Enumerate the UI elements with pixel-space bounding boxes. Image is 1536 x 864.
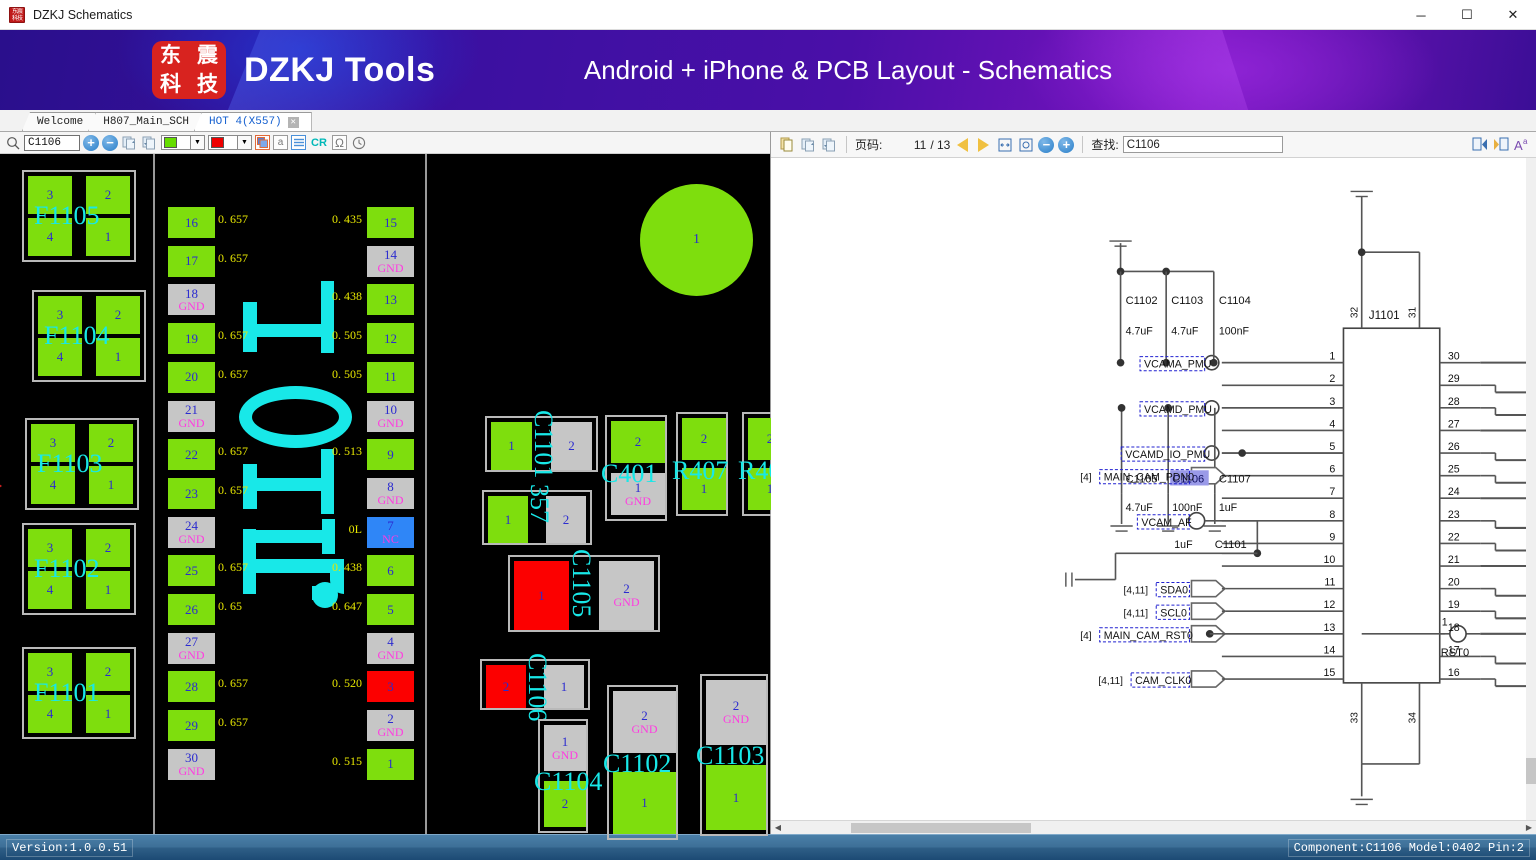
net-label: VCAM_AF (1141, 517, 1192, 529)
fit-page-icon[interactable] (1017, 136, 1034, 153)
port-symbol[interactable] (1191, 603, 1224, 619)
search-input[interactable]: C1106 (24, 135, 80, 151)
pcb-connector-pad[interactable]: 29 (168, 710, 215, 741)
pcb-round-pad[interactable]: 1 (640, 184, 753, 296)
pad[interactable]: 1 (706, 765, 766, 830)
pin-number: 33 (1350, 712, 1361, 724)
sheet-ref: [4,11] (1098, 676, 1123, 687)
pin-number: 4 (1329, 418, 1335, 430)
scroll-thumb[interactable] (851, 823, 1031, 833)
top-layer-swatch (161, 135, 191, 150)
pin-number: 19 (1448, 599, 1460, 611)
pad[interactable]: 2 (96, 296, 140, 334)
banner-title: Android + iPhone & PCB Layout - Schemati… (0, 55, 1536, 86)
scroll-right-arrow[interactable]: ▶ (1522, 821, 1536, 835)
pcb-connector-pad[interactable]: 23 (168, 478, 215, 509)
pcb-trace (322, 519, 335, 554)
pcb-connector-pad[interactable]: 26 (168, 594, 215, 625)
pad[interactable]: 1 (613, 772, 676, 834)
net-label: SDA0 (1160, 585, 1188, 597)
test-point-label: RST0 (1441, 647, 1469, 659)
tab-label: Welcome (37, 116, 83, 128)
chevron-down-icon[interactable]: ▼ (191, 135, 205, 150)
pad[interactable]: 1 (86, 695, 130, 733)
sheet-ref: [4,11] (1124, 586, 1149, 597)
pcb-connector-pad[interactable]: 11 (367, 362, 414, 393)
cap-value: 100nF (1219, 325, 1250, 337)
pcb-connector-pad[interactable]: 7NC (367, 517, 414, 548)
pcb-connector-pad[interactable]: 6 (367, 555, 414, 586)
pcb-column-filters[interactable]: 3 2 4 1 F1105 3 2 4 1 F1104 3 2 (0, 154, 155, 834)
layers-icon[interactable] (255, 135, 270, 150)
chevron-down-icon[interactable]: ▼ (238, 135, 252, 150)
pcb-connector-pad[interactable]: 4GND (367, 633, 414, 664)
pin-number: 20 (1448, 577, 1460, 589)
tab-label: HOT 4(X557) (209, 116, 282, 128)
cap-value: 100nF (1172, 502, 1203, 514)
pad[interactable]: 2 (86, 529, 130, 567)
prev-page-arrow[interactable] (954, 136, 971, 153)
font-size-icon[interactable]: Aa (1513, 136, 1530, 153)
pad[interactable]: 2 (551, 422, 592, 470)
top-layer-color-picker[interactable]: ▼ (161, 135, 205, 150)
zoom-in-button[interactable]: + (1058, 137, 1074, 153)
cr-button[interactable]: CR (309, 134, 329, 151)
pcb-connector-pad[interactable]: 18GND (168, 284, 215, 315)
pin-number: 21 (1448, 554, 1460, 566)
selection-marker (0, 481, 2, 491)
pad[interactable]: 2GND (599, 561, 654, 630)
pcb-pad-dimension: 0. 438 (332, 560, 362, 575)
pcb-pad-dimension: 0. 657 (218, 251, 248, 266)
pcb-package-f1102[interactable]: 3 2 4 1 (22, 523, 136, 615)
tab-h807-main-sch[interactable]: H807_Main_SCH (88, 112, 202, 131)
main-body: C1106 + − ▼ ▼ a CR (0, 132, 1536, 834)
prev-doc-icon[interactable] (800, 136, 817, 153)
pad[interactable]: 2GND (706, 680, 766, 745)
pcb-connector-pad[interactable]: 1 (367, 749, 414, 780)
minimize-button[interactable]: ─ (1398, 0, 1444, 30)
pcb-pad-dimension: 0. 647 (332, 599, 362, 614)
pcb-connector-pad[interactable]: 30GND (168, 749, 215, 780)
pcb-component-c1104[interactable]: 1GND2 (538, 719, 588, 833)
pcb-connector-pad[interactable]: 21GND (168, 401, 215, 432)
pad[interactable]: 4 (38, 338, 82, 376)
net-label: MAIN_CAM_RST0 (1104, 630, 1193, 642)
pcb-component-c1106[interactable]: 21 (480, 659, 590, 710)
search-icon[interactable] (4, 134, 21, 151)
pin-number: 23 (1448, 509, 1460, 521)
schematic-pane: 页码: 11 / 13 − + 查找: C1106 Aa (771, 132, 1536, 834)
pcb-pad-dimension: 0. 435 (332, 212, 362, 227)
schematic-vscrollbar[interactable] (1526, 158, 1536, 820)
pad[interactable]: 3 (38, 296, 82, 334)
net-label: VCAMD_IO_PMU (1125, 449, 1210, 461)
port-symbol[interactable] (1191, 581, 1224, 597)
page-number-input[interactable]: 11 (886, 138, 926, 152)
pcb-pad-dimension: 0. 657 (218, 328, 248, 343)
pad[interactable]: 2 (544, 781, 586, 827)
pcb-trace (312, 586, 330, 600)
pad[interactable]: 1 (514, 561, 569, 630)
zoom-in-button[interactable]: + (83, 135, 99, 151)
tab-label: H807_Main_SCH (103, 116, 189, 128)
pcb-connector-pad[interactable]: 12 (367, 323, 414, 354)
pad[interactable]: 4 (28, 218, 72, 256)
pcb-component-c1101[interactable]: 12 (485, 416, 598, 472)
pad[interactable]: 4 (28, 571, 72, 609)
pcb-package-f1103[interactable]: 3 2 4 1 (25, 418, 139, 510)
net-label: SCL0 (1160, 607, 1187, 619)
pin-number: 34 (1407, 712, 1418, 724)
copy-icon[interactable] (779, 136, 796, 153)
zoom-out-button[interactable]: − (102, 135, 118, 151)
port-symbol[interactable] (1191, 671, 1224, 687)
zoom-out-button[interactable]: − (1038, 137, 1054, 153)
pcb-connector-pad[interactable]: 8GND (367, 478, 414, 509)
pcb-connector-pad[interactable]: 3 (367, 671, 414, 702)
close-button[interactable]: ✕ (1490, 0, 1536, 30)
cap-ref: C1102 (1126, 295, 1158, 307)
tab-welcome[interactable]: Welcome (22, 112, 96, 131)
pad[interactable]: 1 (96, 338, 140, 376)
pcb-connector-pad[interactable]: 28 (168, 671, 215, 702)
pad[interactable]: 2 (86, 176, 130, 214)
bottom-layer-color-picker[interactable]: ▼ (208, 135, 252, 150)
pcb-pad-dimension: 0L (349, 522, 362, 537)
pin-number: 30 (1448, 351, 1460, 363)
cap-value: 4.7uF (1126, 325, 1154, 337)
toolbar-separator (846, 136, 847, 153)
pin-number: 6 (1329, 464, 1335, 476)
pcb-pad-dimension: 0. 505 (332, 328, 362, 343)
tab-close-icon[interactable]: ✕ (288, 117, 299, 128)
sheet-ref: [4,11] (1124, 608, 1149, 619)
pad[interactable]: 2 (89, 424, 133, 462)
pin-number: 15 (1324, 667, 1336, 679)
page-next-icon[interactable] (141, 134, 158, 151)
pcb-connector-pad[interactable]: 19 (168, 323, 215, 354)
cap-value: 4.7uF (1171, 325, 1199, 337)
window-title: DZKJ Schematics (33, 8, 132, 22)
pcb-connector-pad[interactable]: 20 (168, 362, 215, 393)
schematic-canvas[interactable]: J110132313334123456789101112131415302928… (771, 158, 1536, 820)
pin-number: 10 (1324, 554, 1336, 566)
pcb-connector-pad[interactable]: 13 (367, 284, 414, 315)
pcb-trace (239, 386, 352, 448)
fit-width-icon[interactable] (996, 136, 1013, 153)
pin-number: 1 (1442, 617, 1448, 629)
pcb-connector-pad[interactable]: 27GND (168, 633, 215, 664)
schematic-toolbar: 页码: 11 / 13 − + 查找: C1106 Aa (771, 132, 1536, 158)
pin-number: 24 (1448, 486, 1460, 498)
pin-number: 1 (1329, 351, 1335, 363)
pcb-pad-dimension: 0. 657 (218, 676, 248, 691)
pin-number: 14 (1324, 644, 1336, 656)
pad[interactable]: 3 (31, 424, 75, 462)
pin-number: 28 (1448, 396, 1460, 408)
pad-number: 1 (693, 232, 700, 248)
pin-number: 25 (1448, 464, 1460, 476)
pcb-connector-pad[interactable]: 10GND (367, 401, 414, 432)
connector-body[interactable] (1343, 328, 1439, 683)
pin-number: 5 (1329, 441, 1335, 453)
pcb-pad-dimension: 0. 657 (218, 483, 248, 498)
list-icon[interactable] (291, 135, 306, 150)
pcb-pad-dimension: 0. 438 (332, 289, 362, 304)
pin-number: 2 (1329, 373, 1335, 385)
text-toggle-icon[interactable]: a (273, 135, 288, 150)
app-icon: 东震科技 (9, 7, 25, 23)
sheet-ref: [4] (1080, 473, 1091, 484)
status-version: Version:1.0.0.51 (6, 839, 133, 857)
svg-text:a: a (1523, 137, 1528, 146)
pin-number: 26 (1448, 441, 1460, 453)
pcb-connector-pad[interactable]: 9 (367, 439, 414, 470)
cap-ref: C1107 (1219, 473, 1251, 485)
pcb-connector-pad[interactable]: 16 (168, 207, 215, 238)
pcb-component-357[interactable]: 12 (482, 490, 592, 545)
pcb-connector-pad[interactable]: 14GND (367, 246, 414, 277)
pcb-connector-pad[interactable]: 2GND (367, 710, 414, 741)
pcb-pad-dimension: 0. 520 (332, 676, 362, 691)
pad[interactable]: 2 (486, 665, 526, 708)
window-controls: ─ ☐ ✕ (1398, 0, 1536, 30)
page-prev-icon[interactable] (121, 134, 138, 151)
next-page-arrow[interactable] (975, 136, 992, 153)
pad[interactable]: 4 (31, 466, 75, 504)
pad[interactable]: 1 (86, 218, 130, 256)
pin-number: 9 (1329, 531, 1335, 543)
page-total: / 13 (930, 138, 950, 152)
pad[interactable]: 1GND (544, 725, 586, 771)
pin-number: 8 (1329, 509, 1335, 521)
pcb-component-c1103[interactable]: 2GND1 (700, 674, 768, 836)
pin-number: 13 (1324, 622, 1336, 634)
pin-number: 7 (1329, 486, 1335, 498)
pcb-connector-pad[interactable]: 24GND (168, 517, 215, 548)
pcb-pad-dimension: 0. 657 (218, 444, 248, 459)
cap-ref: C1101 (1215, 539, 1247, 551)
pad[interactable]: 3 (28, 653, 72, 691)
pad[interactable]: 1 (89, 466, 133, 504)
pin-number: 11 (1324, 577, 1335, 589)
pad[interactable]: 2 (86, 653, 130, 691)
pad[interactable]: 4 (28, 695, 72, 733)
ohm-button[interactable]: Ω (332, 135, 347, 150)
pcb-connector-pad[interactable]: 5 (367, 594, 414, 625)
pcb-component-r407[interactable]: 21 (676, 412, 728, 516)
pad[interactable]: 1 (544, 665, 584, 708)
pcb-pad-dimension: 0. 65 (218, 599, 242, 614)
cap-value: 4.7uF (1126, 502, 1154, 514)
pcb-canvas[interactable]: 3 2 4 1 F1105 3 2 4 1 F1104 3 2 (0, 154, 770, 834)
pad[interactable]: 3 (28, 176, 72, 214)
pad[interactable]: 2 (611, 421, 665, 463)
net-label: MAIN_CAM_PDN0 (1104, 472, 1194, 484)
pin-number: 3 (1329, 396, 1335, 408)
cap-value: 1uF (1174, 539, 1193, 551)
pcb-connector-pad[interactable]: 22 (168, 439, 215, 470)
page-label: 页码: (855, 136, 882, 153)
cap-ref: C1104 (1219, 295, 1251, 307)
pin-number: 22 (1448, 531, 1460, 543)
find-prev-icon[interactable] (1471, 136, 1488, 153)
connector-ref: J1101 (1369, 309, 1400, 322)
pcb-column-components[interactable]: 1 12C11011235712GNDC110521C110621GNDC401… (427, 154, 770, 834)
tab-strip: Welcome H807_Main_SCH HOT 4(X557) ✕ (0, 110, 1536, 132)
maximize-button[interactable]: ☐ (1444, 0, 1490, 30)
pad[interactable]: 2 (682, 418, 726, 460)
toolbar-separator (1082, 136, 1083, 153)
pcb-pad-dimension: 0. 657 (218, 212, 248, 227)
pcb-component-c1105[interactable]: 12GND (508, 555, 660, 632)
svg-text:A: A (1514, 138, 1523, 152)
pcb-package-f1101[interactable]: 3 2 4 1 (22, 647, 136, 739)
pad[interactable]: 2GND (613, 691, 676, 753)
net-label: VCAMA_PMU (1144, 359, 1211, 371)
sheet-ref: [4] (1080, 631, 1091, 642)
pcb-pad-dimension: 0. 657 (218, 367, 248, 382)
pcb-connector-pad[interactable]: 25 (168, 555, 215, 586)
pcb-trace (243, 324, 333, 337)
pad[interactable]: 1 (488, 496, 528, 543)
pcb-component-c401[interactable]: 21GND (605, 415, 667, 521)
pad[interactable]: 1 (682, 468, 726, 510)
pcb-connector-pad[interactable]: 15 (367, 207, 414, 238)
schematic-hscrollbar[interactable]: ◀ ▶ (771, 820, 1536, 834)
pad[interactable]: 1 (86, 571, 130, 609)
pad[interactable]: 2 (546, 496, 586, 543)
pcb-pad-dimension: 0. 505 (332, 367, 362, 382)
pcb-pad-dimension: 0. 657 (218, 715, 248, 730)
pin-number: 32 (1350, 306, 1361, 318)
net-label: VCAMD_PMU (1144, 404, 1212, 416)
pcb-connector-pad[interactable]: 17 (168, 246, 215, 277)
pad[interactable]: 3 (28, 529, 72, 567)
cap-ref: C1103 (1171, 295, 1203, 307)
pcb-package-f1105[interactable]: 3 2 4 1 (22, 170, 136, 262)
title-bar: 东震科技 DZKJ Schematics ─ ☐ ✕ (0, 0, 1536, 30)
pin-number: 27 (1448, 418, 1460, 430)
net-label: CAM_CLK0 (1135, 675, 1191, 687)
next-doc-icon[interactable] (821, 136, 838, 153)
app-banner: 东 震 科 技 DZKJ Tools Android + iPhone & PC… (0, 30, 1536, 110)
pin-number: 31 (1407, 306, 1418, 318)
status-component: Component:C1106 Model:0402 Pin:2 (1288, 839, 1530, 857)
pcb-trace (243, 559, 343, 573)
history-icon[interactable] (350, 134, 367, 151)
pin-number: 12 (1324, 599, 1336, 611)
pad[interactable]: 1GND (611, 473, 665, 515)
find-input[interactable]: C1106 (1123, 136, 1283, 153)
schematic-drawing[interactable]: J110132313334123456789101112131415302928… (771, 158, 1536, 820)
scroll-left-arrow[interactable]: ◀ (771, 821, 785, 835)
find-label: 查找: (1091, 136, 1118, 153)
pcb-column-connector[interactable]: 160. 657170. 65718GND190. 657200. 65721G… (155, 154, 427, 834)
pcb-package-f1104[interactable]: 3 2 4 1 (32, 290, 146, 382)
find-next-icon[interactable] (1492, 136, 1509, 153)
pin-number: 16 (1448, 667, 1460, 679)
pcb-pad-dimension: 0. 657 (218, 560, 248, 575)
pin-number: 18 (1448, 622, 1460, 634)
cap-value: 1uF (1219, 502, 1238, 514)
pcb-pane: C1106 + − ▼ ▼ a CR (0, 132, 771, 834)
pcb-trace (243, 478, 333, 491)
pad[interactable]: 1 (491, 422, 532, 470)
status-bar: Version:1.0.0.51 Component:C1106 Model:0… (0, 834, 1536, 860)
pcb-toolbar: C1106 + − ▼ ▼ a CR (0, 132, 770, 154)
pcb-pad-dimension: 0. 515 (332, 754, 362, 769)
scroll-thumb[interactable] (1526, 758, 1536, 784)
pin-number: 29 (1448, 373, 1460, 385)
bottom-layer-swatch (208, 135, 238, 150)
pcb-component-c1102[interactable]: 2GND1 (607, 685, 678, 840)
pcb-pad-dimension: 0. 513 (332, 444, 362, 459)
tab-hot4-x557[interactable]: HOT 4(X557) ✕ (194, 112, 312, 131)
